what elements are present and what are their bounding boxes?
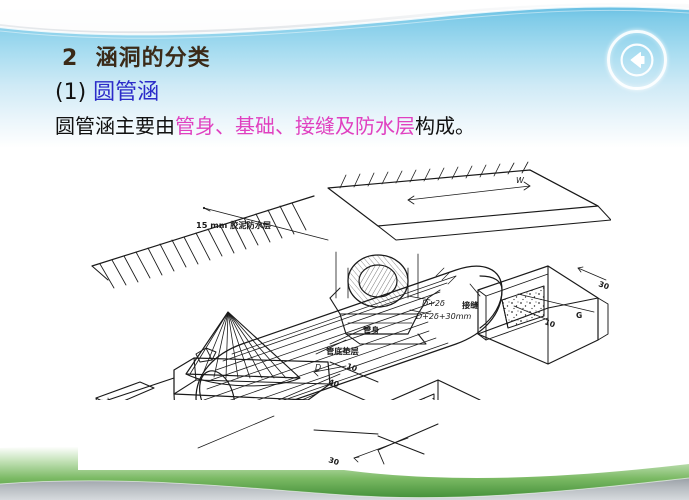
back-arrow-icon <box>620 43 654 77</box>
back-button[interactable] <box>607 30 667 90</box>
subtitle: (1) 圆管涵 <box>55 74 159 106</box>
culvert-diagram-top-layer: 30 <box>78 148 611 458</box>
page-title: 2 涵洞的分类 <box>62 40 211 72</box>
title-number: 2 <box>62 46 78 71</box>
body-suffix: 构成。 <box>415 114 475 138</box>
body-text: 圆管涵主要由管身、基础、接缝及防水层构成。 <box>55 110 475 139</box>
label-dim-30-footer: 30 <box>327 455 340 467</box>
subtitle-highlight: 圆管涵 <box>93 80 159 105</box>
title-label: 涵洞的分类 <box>96 46 211 71</box>
body-prefix: 圆管涵主要由 <box>55 114 175 138</box>
subtitle-prefix: (1) <box>55 80 93 105</box>
body-highlight: 管身、基础、接缝及防水层 <box>175 114 415 138</box>
slide-root: 2 涵洞的分类 (1) 圆管涵 圆管涵主要由管身、基础、接缝及防水层构成。 <box>0 0 689 500</box>
culvert-drawing-lower-detail: 30 <box>78 148 611 470</box>
